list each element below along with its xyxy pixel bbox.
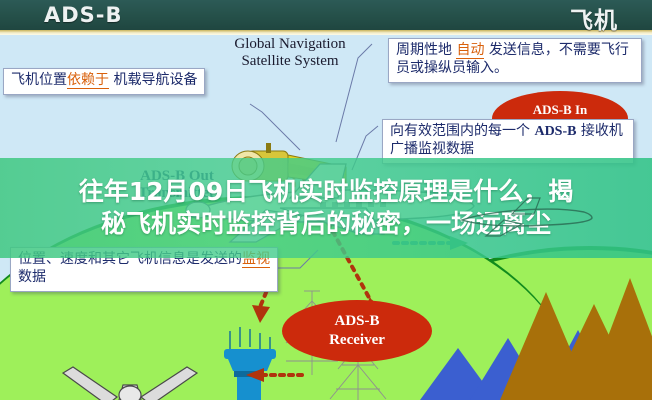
header-underline [0,30,652,35]
callout-automatic-text-before: 周期性地 [396,42,456,58]
callout-surveillance-text-after: 数据 [18,269,46,285]
callout-navigation-highlight: 依赖于 [67,72,109,89]
callout-broadcast-highlight: ADS-B [534,124,576,139]
screenshot-root: ADS-B In Receiver ADS-B Receiver Global … [0,0,652,400]
header-title-left: ADS-B [44,3,123,27]
callout-navigation-text-before: 飞机位置 [11,72,67,88]
airplane-secondary-icon [452,192,602,242]
callout-automatic-highlight: 自动 [456,42,484,59]
callout-navigation-text-after: 机载导航设备 [109,72,197,88]
callout-automatic: 周期性地 自动 发送信息，不需要飞行员或操纵员输入。 [388,38,642,83]
callout-navigation: 飞机位置依赖于 机载导航设备 [3,68,205,95]
callout-broadcast-text-before: 向有效范围内的每一个 [390,123,534,139]
header-title-right: 飞机 [570,1,618,35]
